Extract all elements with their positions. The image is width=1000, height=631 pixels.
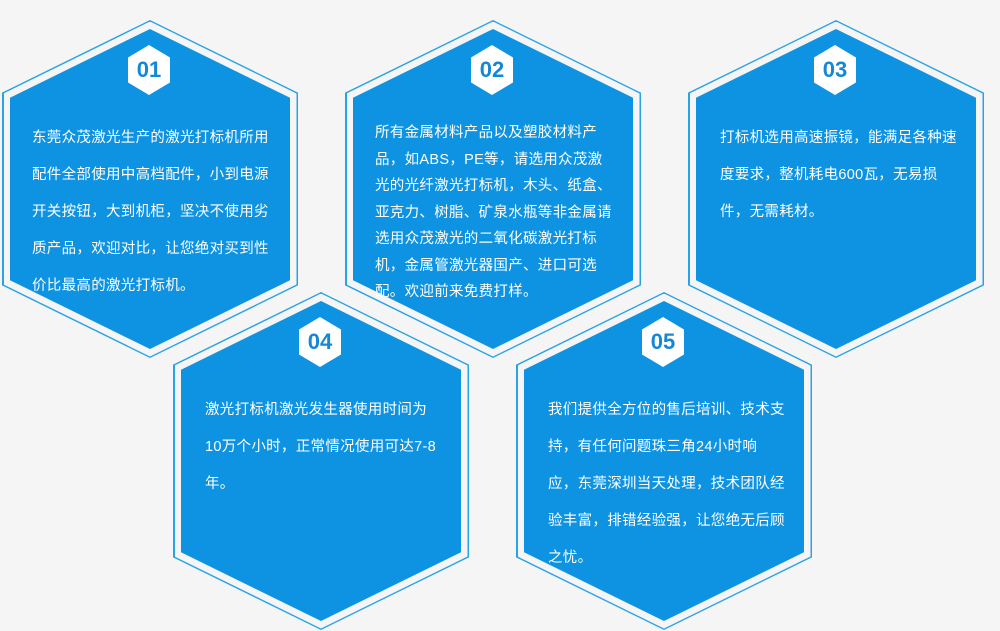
number-badge-label-03: 03 — [823, 59, 847, 81]
number-badge-label-05: 05 — [651, 331, 675, 353]
feature-text-03: 打标机选用高速振镜，能满足各种速度要求，整机耗电600瓦，无易损件，无需耗材。 — [720, 120, 958, 231]
feature-text-01: 东莞众茂激光生产的激光打标机所用配件全部使用中高档配件，小到电源开关按钮，大到机… — [32, 120, 270, 305]
number-badge-label-02: 02 — [480, 59, 504, 81]
feature-text-02: 所有金属材料产品以及塑胶材料产品，如ABS，PE等，请选用众茂激光的光纤激光打标… — [375, 120, 615, 306]
feature-text-04: 激光打标机激光发生器使用时间为10万个小时，正常情况使用可达7-8年。 — [205, 392, 443, 503]
number-badge-label-04: 04 — [308, 331, 332, 353]
feature-text-05: 我们提供全方位的售后培训、技术支持，有任何问题珠三角24小时响应，东莞深圳当天处… — [548, 392, 786, 577]
number-badge-label-01: 01 — [137, 59, 161, 81]
hexagon-feature-board: 东莞众茂激光生产的激光打标机所用配件全部使用中高档配件，小到电源开关按钮，大到机… — [0, 0, 1000, 631]
